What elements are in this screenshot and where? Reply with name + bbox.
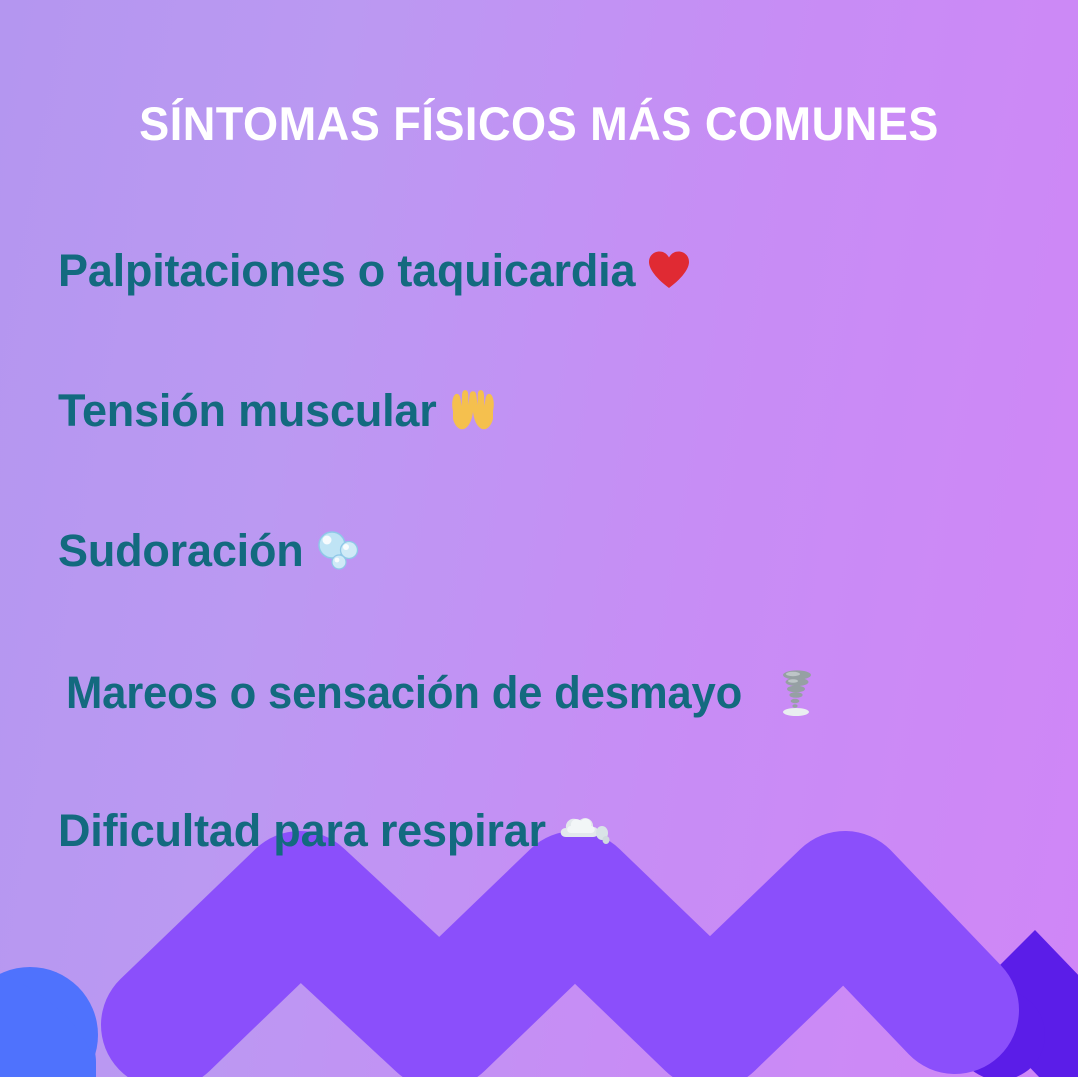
bottom-right-chevron-shape xyxy=(955,930,1078,1077)
symptom-label: Palpitaciones o taquicardia xyxy=(58,248,635,293)
bottom-left-blob-round xyxy=(0,967,98,1077)
zigzag-band-shape xyxy=(165,895,955,1025)
symptom-item-mareos: Mareos o sensación de desmayo xyxy=(66,668,819,716)
raising-hands-icon xyxy=(449,389,497,433)
symptom-item-palpitaciones: Palpitaciones o taquicardia xyxy=(58,248,691,293)
symptom-item-sudoracion: Sudoración xyxy=(58,528,364,573)
bottom-left-blob-tail xyxy=(0,965,96,1077)
symptom-label: Tensión muscular xyxy=(58,388,437,433)
poster-title: SÍNTOMAS FÍSICOS MÁS COMUNES xyxy=(22,99,1057,148)
infographic-poster: SÍNTOMAS FÍSICOS MÁS COMUNES Palpitacion… xyxy=(0,0,1078,1077)
symptom-item-dificultad-respirar: Dificultad para respirar xyxy=(58,808,610,853)
symptom-label: Dificultad para respirar xyxy=(58,808,546,853)
red-heart-icon xyxy=(647,249,691,293)
symptom-item-tension-muscular: Tensión muscular xyxy=(58,388,497,433)
dashing-away-icon xyxy=(558,809,610,853)
bubbles-icon xyxy=(316,529,364,573)
bottom-left-blob-shape xyxy=(0,985,96,1077)
symptom-label: Sudoración xyxy=(58,528,304,573)
symptom-label: Mareos o sensación de desmayo xyxy=(66,670,742,715)
tornado-icon xyxy=(775,668,819,716)
